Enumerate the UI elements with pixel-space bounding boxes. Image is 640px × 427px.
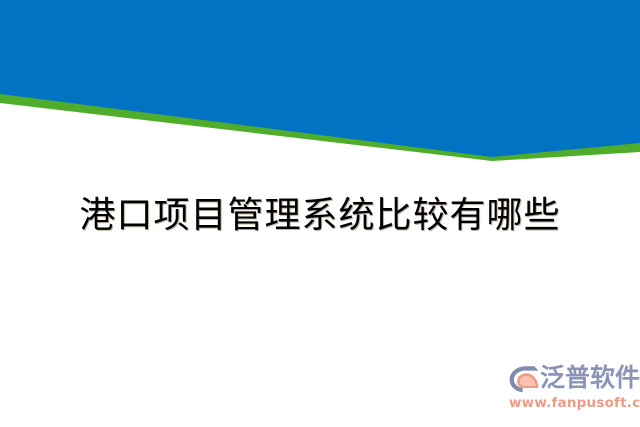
fanpu-swoosh-icon [508, 364, 540, 394]
logo-mark-row: 泛普软件 [506, 362, 636, 396]
logo-url-text: www.fanpusoft.com [509, 395, 636, 412]
header-banner [0, 0, 640, 175]
slide-canvas: 港口项目管理系统比较有哪些 泛普软件 www.fanpusoft.com [0, 0, 640, 427]
page-title: 港口项目管理系统比较有哪些 [0, 193, 640, 237]
logo-brand-text: 泛普软件 [540, 362, 636, 394]
fanpu-logo[interactable]: 泛普软件 www.fanpusoft.com [506, 362, 636, 416]
banner-blue-shape [0, 0, 640, 157]
